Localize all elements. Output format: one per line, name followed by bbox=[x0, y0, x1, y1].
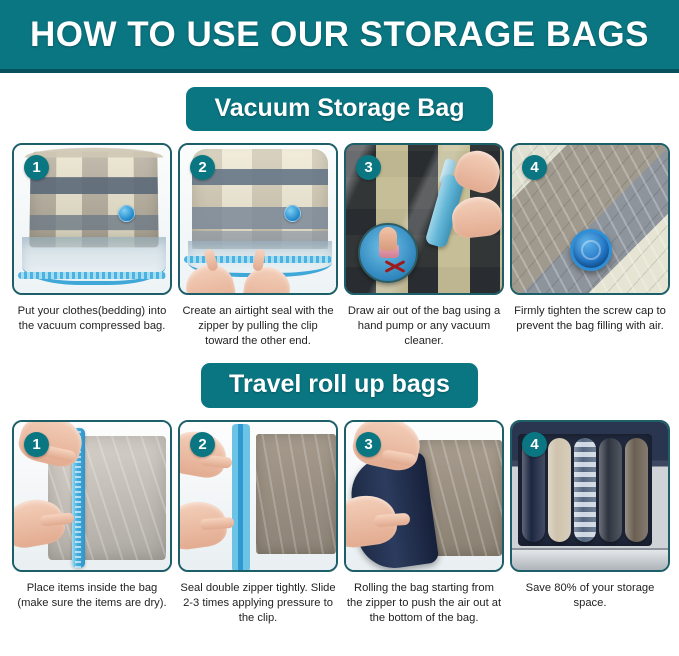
step-cell-travel-4: 4 Save 80% of your storage space. bbox=[510, 420, 670, 626]
bedding-stripe bbox=[30, 177, 158, 194]
steps-row-travel: 1 Place items inside the bag (make sure … bbox=[0, 420, 679, 626]
section-title-travel: Travel roll up bags bbox=[201, 363, 478, 407]
red-x-warning-icon bbox=[384, 258, 406, 274]
step-badge: 2 bbox=[190, 432, 215, 457]
infographic-page: HOW TO USE OUR STORAGE BAGS Vacuum Stora… bbox=[0, 0, 679, 656]
step-caption: Put your clothes(bedding) into the vacuu… bbox=[12, 304, 172, 334]
step-caption: Place items inside the bag (make sure th… bbox=[12, 581, 172, 611]
step-badge: 1 bbox=[24, 432, 49, 457]
step-caption: Save 80% of your storage space. bbox=[510, 581, 670, 611]
valve-closeup-inset bbox=[358, 223, 418, 283]
step-cell-travel-2: 2 Seal double zipper tightly. Slide 2-3 … bbox=[178, 420, 338, 626]
section-travel-roll-up-bags: Travel roll up bags 1 Place items insi bbox=[0, 349, 679, 625]
roll-up-bag-with-items bbox=[256, 434, 336, 554]
step-cell-vacuum-3: 3 Draw air out of the bag using a hand p… bbox=[344, 143, 504, 349]
step-image-vacuum-1: 1 bbox=[12, 143, 172, 295]
step-image-travel-2: 2 bbox=[178, 420, 338, 572]
rolled-bundle bbox=[548, 438, 571, 542]
bedding-band-2 bbox=[192, 207, 328, 229]
thumb-pressing-valve bbox=[379, 227, 397, 251]
step-image-vacuum-3: 3 bbox=[344, 143, 504, 295]
suitcase-rail bbox=[512, 548, 668, 570]
step-caption: Firmly tighten the screw cap to prevent … bbox=[510, 304, 670, 334]
section-title-wrap-1: Vacuum Storage Bag bbox=[0, 73, 679, 143]
steps-row-vacuum: 1 Put your clothes(bedding) into the vac… bbox=[0, 143, 679, 349]
step-cell-vacuum-1: 1 Put your clothes(bedding) into the vac… bbox=[12, 143, 172, 349]
page-title: HOW TO USE OUR STORAGE BAGS bbox=[30, 15, 649, 55]
double-zipper bbox=[232, 424, 250, 572]
step-image-vacuum-4: 4 bbox=[510, 143, 670, 295]
step-badge: 3 bbox=[356, 432, 381, 457]
step-caption: Create an airtight seal with the zipper … bbox=[178, 304, 338, 349]
step-image-vacuum-2: 2 bbox=[178, 143, 338, 295]
bedding-stripe-2 bbox=[30, 215, 159, 230]
step-image-travel-1: 1 bbox=[12, 420, 172, 572]
step-cell-travel-1: 1 Place items inside the bag (make sure … bbox=[12, 420, 172, 626]
lower-finger bbox=[374, 512, 411, 526]
lower-finger bbox=[200, 516, 235, 529]
step-cell-vacuum-4: 4 Firmly tighten the screw cap to preven… bbox=[510, 143, 670, 349]
step-caption: Seal double zipper tightly. Slide 2-3 ti… bbox=[178, 581, 338, 626]
step-cell-travel-3: 3 Rolling the bag starting from the zipp… bbox=[344, 420, 504, 626]
section-vacuum-storage-bag: Vacuum Storage Bag 1 bbox=[0, 73, 679, 349]
section-title-wrap-2: Travel roll up bags bbox=[0, 349, 679, 419]
step-caption: Rolling the bag starting from the zipper… bbox=[344, 581, 504, 626]
rolled-bundle bbox=[599, 438, 622, 542]
rolled-bundle bbox=[625, 438, 648, 542]
screw-cap-icon bbox=[570, 229, 612, 271]
page-header: HOW TO USE OUR STORAGE BAGS bbox=[0, 0, 679, 73]
step-image-travel-3: 3 bbox=[344, 420, 504, 572]
zipper-seal bbox=[18, 272, 166, 279]
step-badge: 4 bbox=[522, 432, 547, 457]
step-image-travel-4: 4 bbox=[510, 420, 670, 572]
rolled-bundle bbox=[574, 438, 597, 542]
section-title-vacuum: Vacuum Storage Bag bbox=[186, 87, 492, 131]
step-cell-vacuum-2: 2 Create an airtight seal with the zippe… bbox=[178, 143, 338, 349]
step-caption: Draw air out of the bag using a hand pum… bbox=[344, 304, 504, 349]
